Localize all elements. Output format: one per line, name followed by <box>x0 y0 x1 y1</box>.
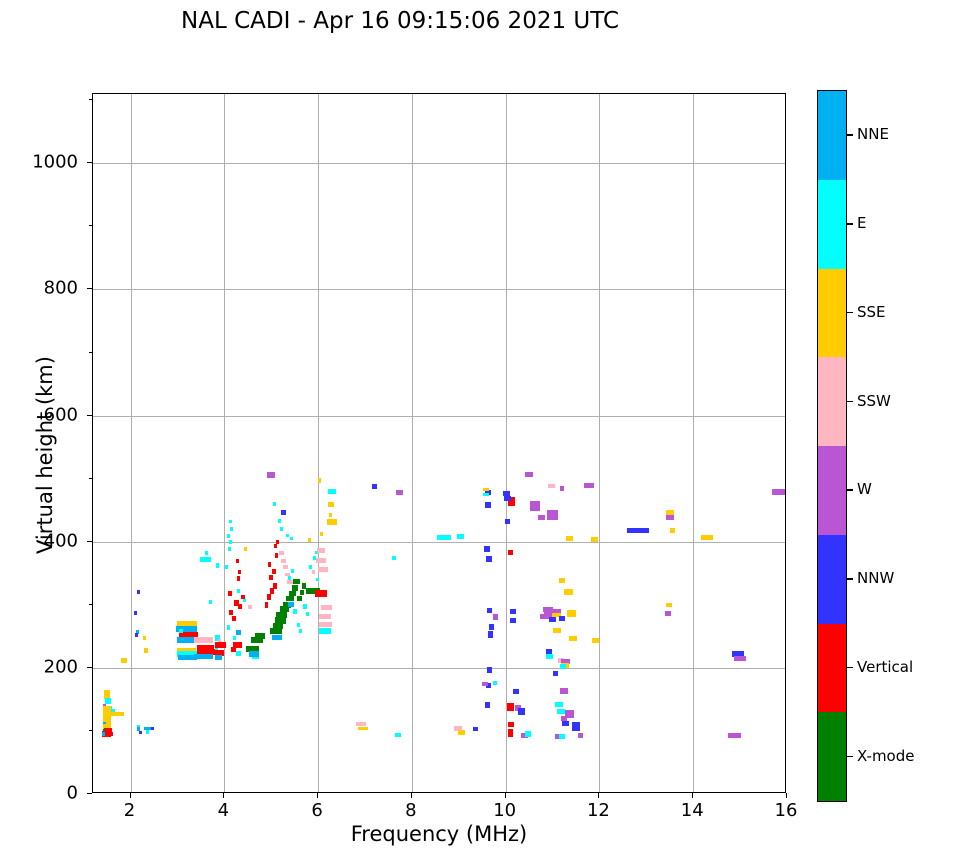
echo-point <box>329 513 332 517</box>
colorbar-tick <box>847 578 853 580</box>
gridline-vertical <box>599 94 600 792</box>
echo-point <box>303 604 307 608</box>
y-tick <box>87 162 92 163</box>
x-tick-label: 16 <box>775 800 798 821</box>
x-tick <box>505 793 506 798</box>
x-tick-label: 4 <box>218 800 229 821</box>
echo-point <box>275 553 278 557</box>
echo-point <box>283 565 288 569</box>
echo-point <box>734 656 746 662</box>
echo-point <box>559 616 566 621</box>
echo-point <box>312 570 316 574</box>
echo-point <box>538 515 545 520</box>
echo-point <box>546 654 553 659</box>
echo-point <box>267 472 275 478</box>
gridline-vertical <box>506 94 507 792</box>
echo-point <box>293 609 297 614</box>
echo-point <box>584 483 594 488</box>
echo-point <box>560 486 565 491</box>
gridline-horizontal <box>93 542 785 543</box>
echo-point <box>110 712 124 716</box>
echo-point <box>395 733 401 737</box>
echo-point <box>272 569 276 573</box>
echo-point <box>244 547 247 551</box>
echo-point <box>457 534 464 539</box>
gridline-vertical <box>131 94 132 792</box>
echo-point <box>508 550 513 556</box>
x-tick <box>223 793 224 798</box>
colorbar-label-nnw: NNW <box>857 569 894 587</box>
echo-point <box>483 488 489 492</box>
echo-point <box>487 667 492 673</box>
echo-point <box>272 635 282 641</box>
echo-point <box>292 585 298 591</box>
echo-point <box>281 559 286 563</box>
echo-point <box>358 727 367 731</box>
echo-point <box>319 614 331 619</box>
echo-point <box>316 558 325 562</box>
echo-point <box>559 734 566 740</box>
echo-point <box>230 527 233 531</box>
echo-point <box>276 612 286 618</box>
echo-point <box>236 630 241 635</box>
echo-point <box>592 638 600 643</box>
colorbar-segment-vertical[interactable] <box>818 624 846 713</box>
echo-point <box>228 547 231 551</box>
echo-point <box>392 556 397 560</box>
echo-point <box>486 556 492 562</box>
y-tick-label: 800 <box>16 278 78 299</box>
echo-point <box>146 730 149 734</box>
echo-point <box>278 519 281 523</box>
x-tick <box>317 793 318 798</box>
echo-point <box>233 636 236 640</box>
echo-point <box>513 689 519 694</box>
echo-point <box>228 591 232 597</box>
colorbar-tick <box>847 401 853 403</box>
x-tick-label: 14 <box>681 800 704 821</box>
echo-point <box>567 610 575 618</box>
colorbar-segment-w[interactable] <box>818 446 846 535</box>
echo-point <box>317 548 325 552</box>
colorbar-segment-nnw[interactable] <box>818 535 846 624</box>
colorbar-segment-ssw[interactable] <box>818 357 846 446</box>
echo-point <box>139 731 142 734</box>
echo-point <box>505 519 511 524</box>
x-tick <box>130 793 131 798</box>
plot-canvas <box>93 94 785 792</box>
echo-point <box>309 565 312 569</box>
echo-point <box>255 633 264 639</box>
echo-point <box>108 732 113 736</box>
colorbar-label-ssw: SSW <box>857 392 891 410</box>
echo-point <box>566 536 573 541</box>
echo-point <box>275 617 285 623</box>
echo-point <box>265 602 269 608</box>
echo-point <box>270 588 274 594</box>
echo-point <box>485 702 490 708</box>
echo-point <box>225 565 228 569</box>
y-tick <box>87 541 92 542</box>
echo-point <box>560 688 568 694</box>
echo-point <box>319 622 331 627</box>
echo-point <box>458 730 465 735</box>
echo-point <box>487 608 492 613</box>
echo-point <box>553 671 559 676</box>
echo-point <box>306 612 309 616</box>
echo-point <box>327 519 337 525</box>
echo-point <box>248 605 251 609</box>
echo-point <box>280 527 283 531</box>
echo-point <box>548 484 555 488</box>
echo-point <box>194 654 213 660</box>
echo-point <box>518 708 525 715</box>
y-tick <box>87 793 92 794</box>
gridline-horizontal <box>93 163 785 164</box>
x-axis-label: Frequency (MHz) <box>92 822 786 846</box>
echo-point <box>289 591 296 597</box>
echo-point <box>288 576 291 580</box>
echo-point <box>318 478 321 482</box>
page-title: NAL CADI - Apr 16 09:15:06 2021 UTC <box>0 8 800 34</box>
echo-point <box>151 727 154 731</box>
colorbar-label-w: W <box>857 480 872 498</box>
echo-point <box>297 596 302 601</box>
echo-point <box>318 567 328 571</box>
echo-point <box>300 590 304 595</box>
echo-point <box>297 623 300 627</box>
echo-point <box>274 544 277 548</box>
colorbar-label-sse: SSE <box>857 303 886 321</box>
echo-point <box>315 590 327 596</box>
gridline-vertical <box>693 94 694 792</box>
echo-point <box>238 604 242 609</box>
gridline-vertical <box>224 94 225 792</box>
echo-point <box>473 727 479 731</box>
echo-point <box>591 537 599 542</box>
echo-point <box>135 633 138 637</box>
echo-point <box>286 534 289 538</box>
echo-point <box>288 602 294 607</box>
echo-point <box>232 616 236 621</box>
echo-point <box>302 583 306 589</box>
echo-point <box>291 569 294 573</box>
colorbar-segment-nne[interactable] <box>818 91 846 180</box>
echo-point <box>200 557 212 563</box>
echo-point <box>227 625 230 629</box>
x-tick-label: 12 <box>587 800 610 821</box>
echo-point <box>547 510 557 520</box>
echo-point <box>701 535 713 540</box>
echo-point <box>215 655 223 660</box>
y-minor-tick <box>89 225 92 226</box>
echo-point <box>321 605 332 609</box>
echo-point <box>485 502 491 508</box>
echo-point <box>227 534 230 538</box>
y-tick <box>87 288 92 289</box>
echo-point <box>287 580 292 584</box>
x-tick-label: 10 <box>493 800 516 821</box>
echo-point <box>121 658 128 663</box>
echo-point <box>293 579 299 585</box>
x-tick-label: 6 <box>311 800 322 821</box>
echo-point <box>493 681 497 685</box>
echo-point <box>276 540 279 544</box>
echo-point <box>194 637 213 643</box>
echo-point <box>372 484 378 489</box>
plot-axes <box>92 93 786 793</box>
echo-point <box>578 733 584 737</box>
echo-point <box>564 589 572 595</box>
colorbar-tick <box>847 223 853 225</box>
echo-point <box>525 731 532 737</box>
y-minor-tick <box>89 352 92 353</box>
colorbar-tick <box>847 756 853 758</box>
echo-point <box>562 721 569 726</box>
gridline-horizontal <box>93 416 785 417</box>
y-tick <box>87 667 92 668</box>
colorbar-label-nne: NNE <box>857 125 889 143</box>
y-minor-tick <box>89 478 92 479</box>
echo-point <box>559 578 565 583</box>
echo-point <box>488 631 494 637</box>
echo-point <box>493 614 498 620</box>
echo-point <box>229 610 233 616</box>
x-tick-label: 2 <box>124 800 135 821</box>
colorbar-label-e: E <box>857 214 866 232</box>
echo-point <box>143 636 146 640</box>
echo-point <box>572 722 580 731</box>
gridline-vertical <box>412 94 413 792</box>
echo-point <box>238 570 241 574</box>
echo-point <box>286 596 294 602</box>
echo-point <box>236 651 241 656</box>
colorbar-segment-sse[interactable] <box>818 269 846 358</box>
colorbar-tick <box>847 667 853 669</box>
x-tick <box>692 793 693 798</box>
echo-point <box>728 733 740 738</box>
echo-point <box>102 732 105 736</box>
echo-point <box>290 537 293 541</box>
gridline-horizontal <box>93 289 785 290</box>
echo-point <box>308 538 311 542</box>
echo-point <box>437 535 451 540</box>
echo-point <box>507 703 514 712</box>
echo-point <box>510 609 516 614</box>
echo-point <box>510 618 516 623</box>
gridline-vertical <box>318 94 319 792</box>
echo-point <box>484 546 490 552</box>
echo-point <box>229 520 232 524</box>
echo-point <box>666 603 673 607</box>
echo-point <box>179 629 184 633</box>
echo-point <box>549 617 556 622</box>
echo-point <box>328 502 335 507</box>
echo-point <box>299 629 302 633</box>
echo-point <box>243 599 246 603</box>
echo-point <box>279 551 284 555</box>
echo-point <box>137 590 140 594</box>
echo-point <box>319 628 331 634</box>
echo-point <box>670 528 676 532</box>
echo-point <box>508 722 514 727</box>
echo-point <box>772 489 784 495</box>
y-axis-label: Virtual height (km) <box>33 305 57 605</box>
colorbar-segment-e[interactable] <box>818 180 846 269</box>
echo-point <box>281 510 286 515</box>
x-tick <box>786 793 787 798</box>
echo-point <box>483 493 489 497</box>
echo-point <box>560 664 567 668</box>
colorbar-segment-x-mode[interactable] <box>818 712 846 801</box>
colorbar-label-x-mode: X-mode <box>857 747 914 765</box>
echo-point <box>569 636 577 641</box>
y-minor-tick <box>89 99 92 100</box>
x-tick <box>411 793 412 798</box>
echo-point <box>267 594 271 600</box>
echo-point <box>504 496 511 501</box>
gridline-horizontal <box>93 668 785 669</box>
colorbar[interactable] <box>817 90 847 802</box>
echo-point <box>525 472 533 477</box>
x-tick-label: 8 <box>405 800 416 821</box>
echo-point <box>273 583 277 589</box>
echo-point <box>666 515 674 520</box>
echo-point <box>316 578 319 582</box>
y-tick-label: 200 <box>16 656 78 677</box>
colorbar-tick <box>847 134 853 136</box>
y-tick-label: 1000 <box>16 152 78 173</box>
y-tick-label: 0 <box>16 783 78 804</box>
colorbar-tick <box>847 312 853 314</box>
y-minor-tick <box>89 730 92 731</box>
echo-point <box>205 551 208 555</box>
colorbar-tick <box>847 489 853 491</box>
echo-point <box>209 600 212 604</box>
echo-point <box>134 611 137 615</box>
echo-point <box>144 648 149 653</box>
echo-point <box>530 501 540 511</box>
echo-point <box>273 502 276 506</box>
echo-point <box>320 532 323 536</box>
echo-point <box>269 575 273 580</box>
echo-point <box>273 623 283 629</box>
echo-point <box>396 490 403 494</box>
echo-point <box>482 682 488 686</box>
echo-point <box>356 722 366 726</box>
echo-point <box>237 576 240 580</box>
echo-point <box>268 562 271 566</box>
y-minor-tick <box>89 604 92 605</box>
echo-point <box>104 690 111 699</box>
colorbar-label-vertical: Vertical <box>857 658 913 676</box>
echo-point <box>627 528 649 534</box>
echo-point <box>489 624 494 630</box>
echo-point <box>553 628 561 633</box>
echo-point <box>249 651 259 657</box>
y-tick <box>87 415 92 416</box>
echo-point <box>665 611 672 616</box>
echo-point <box>237 589 240 593</box>
echo-point <box>229 540 232 544</box>
echo-point <box>216 563 219 568</box>
echo-point <box>508 729 514 737</box>
x-tick <box>598 793 599 798</box>
echo-point <box>555 702 563 708</box>
echo-point <box>328 489 336 494</box>
echo-point <box>236 559 239 563</box>
echo-point <box>105 698 112 704</box>
ionogram-figure: NAL CADI - Apr 16 09:15:06 2021 UTC 2468… <box>0 0 958 857</box>
